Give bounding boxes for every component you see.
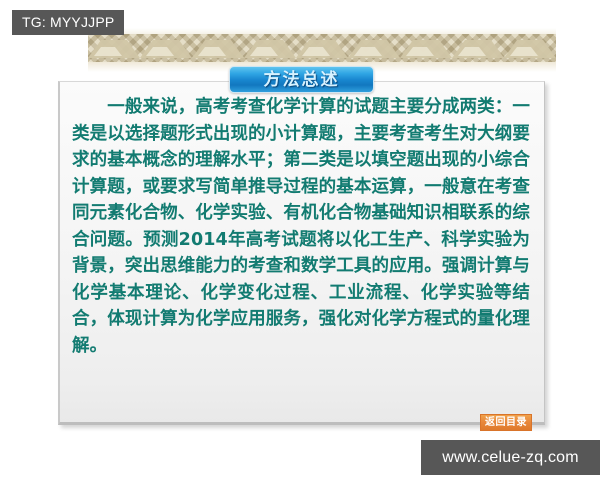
slide-canvas: TG: MYYJJPP 一般来说，高考考查化学计算的试题主要分成两类：一类是以选…	[0, 0, 600, 480]
site-watermark: www.celue-zq.com	[421, 440, 600, 475]
body-paragraph: 一般来说，高考考查化学计算的试题主要分成两类：一类是以选择题形式出现的小计算题，…	[72, 94, 530, 359]
channel-tag: TG: MYYJJPP	[12, 10, 124, 35]
content-panel: 一般来说，高考考查化学计算的试题主要分成两类：一类是以选择题形式出现的小计算题，…	[58, 81, 545, 425]
section-title-label: 方法总述	[264, 71, 340, 89]
return-to-contents-label: 返回目录	[485, 417, 527, 428]
site-watermark-label: www.celue-zq.com	[442, 449, 579, 467]
return-to-contents-button[interactable]: 返回目录	[480, 414, 532, 431]
section-title-badge: 方法总述	[229, 66, 374, 93]
triangle-pattern-icon	[88, 38, 556, 58]
